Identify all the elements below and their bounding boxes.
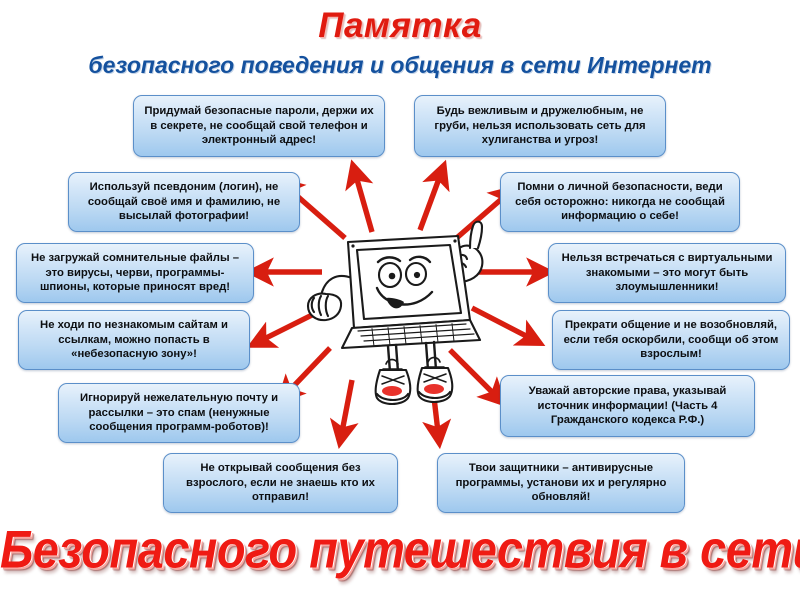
tip-box-pseudonym[interactable]: Используй псевдоним (логин), не сообщай … [68, 172, 300, 232]
laptop-face [377, 257, 432, 309]
tip-box-unknown-messages[interactable]: Не открывай сообщения без взрослого, есл… [163, 453, 398, 513]
tip-text: Не открывай сообщения без взрослого, есл… [171, 461, 390, 505]
tip-text: Используй псевдоним (логин), не сообщай … [76, 180, 292, 224]
page-title: Памятка [0, 6, 800, 46]
laptop-sneakers [376, 358, 453, 405]
tip-text: Нельзя встречаться с виртуальными знаком… [556, 251, 778, 295]
tip-box-passwords[interactable]: Придумай безопасные пароли, держи их в с… [133, 95, 385, 157]
arrow-to-copyright [450, 350, 495, 395]
arrow-down-right-inner [432, 380, 438, 432]
tip-text: Уважай авторские права, указывай источни… [508, 384, 747, 428]
tip-box-suspicious-files[interactable]: Не загружай сомнительные файлы – это вир… [16, 243, 254, 303]
laptop-screen-frame [348, 236, 470, 328]
arrow-up-left-inner [356, 176, 372, 232]
tip-box-virtual-acquaintances[interactable]: Нельзя встречаться с виртуальными знаком… [548, 243, 786, 303]
tip-text: Не загружай сомнительные файлы – это вир… [24, 251, 246, 295]
tip-text: Помни о личной безопасности, веди себя о… [508, 180, 732, 224]
tip-box-personal-safety[interactable]: Помни о личной безопасности, веди себя о… [500, 172, 740, 232]
laptop-right-hand-pointing [450, 222, 482, 282]
tip-box-politeness[interactable]: Будь вежливым и дружелюбным, не груби, н… [414, 95, 666, 157]
tip-box-copyright[interactable]: Уважай авторские права, указывай источни… [500, 375, 755, 437]
arrow-to-unknown-sites [262, 312, 318, 340]
laptop-screen-inner [357, 245, 461, 319]
laptop-legs [388, 342, 436, 372]
arrow-down-left-inner [342, 380, 352, 432]
tip-text: Прекрати общение и не возобновляй, если … [560, 318, 782, 362]
tip-box-spam[interactable]: Игнорируй нежелательную почту и рассылки… [58, 383, 300, 443]
bottom-banner: Безопасного путешествия в сети! [0, 518, 800, 580]
tip-text: Игнорируй нежелательную почту и рассылки… [66, 391, 292, 435]
arrow-up-right-inner [420, 176, 440, 230]
tip-text: Не ходи по незнакомым сайтам и ссылкам, … [26, 318, 242, 362]
tip-box-antivirus[interactable]: Твои защитники – антивирусные программы,… [437, 453, 685, 513]
tip-text: Твои защитники – антивирусные программы,… [445, 461, 677, 505]
arrow-to-personal-safety [452, 196, 505, 242]
tip-text: Придумай безопасные пароли, держи их в с… [141, 104, 377, 148]
laptop-keyboard [342, 320, 480, 348]
laptop-left-hand [308, 276, 352, 320]
page-subtitle: безопасного поведения и общения в сети И… [0, 52, 800, 79]
tip-text: Будь вежливым и дружелюбным, не груби, н… [422, 104, 658, 148]
arrow-to-stop-communication [472, 308, 530, 338]
tip-box-unknown-sites[interactable]: Не ходи по незнакомым сайтам и ссылкам, … [18, 310, 250, 370]
internet-safety-poster: Памятка безопасного поведения и общения … [0, 0, 800, 600]
tip-box-stop-communication[interactable]: Прекрати общение и не возобновляй, если … [552, 310, 790, 370]
